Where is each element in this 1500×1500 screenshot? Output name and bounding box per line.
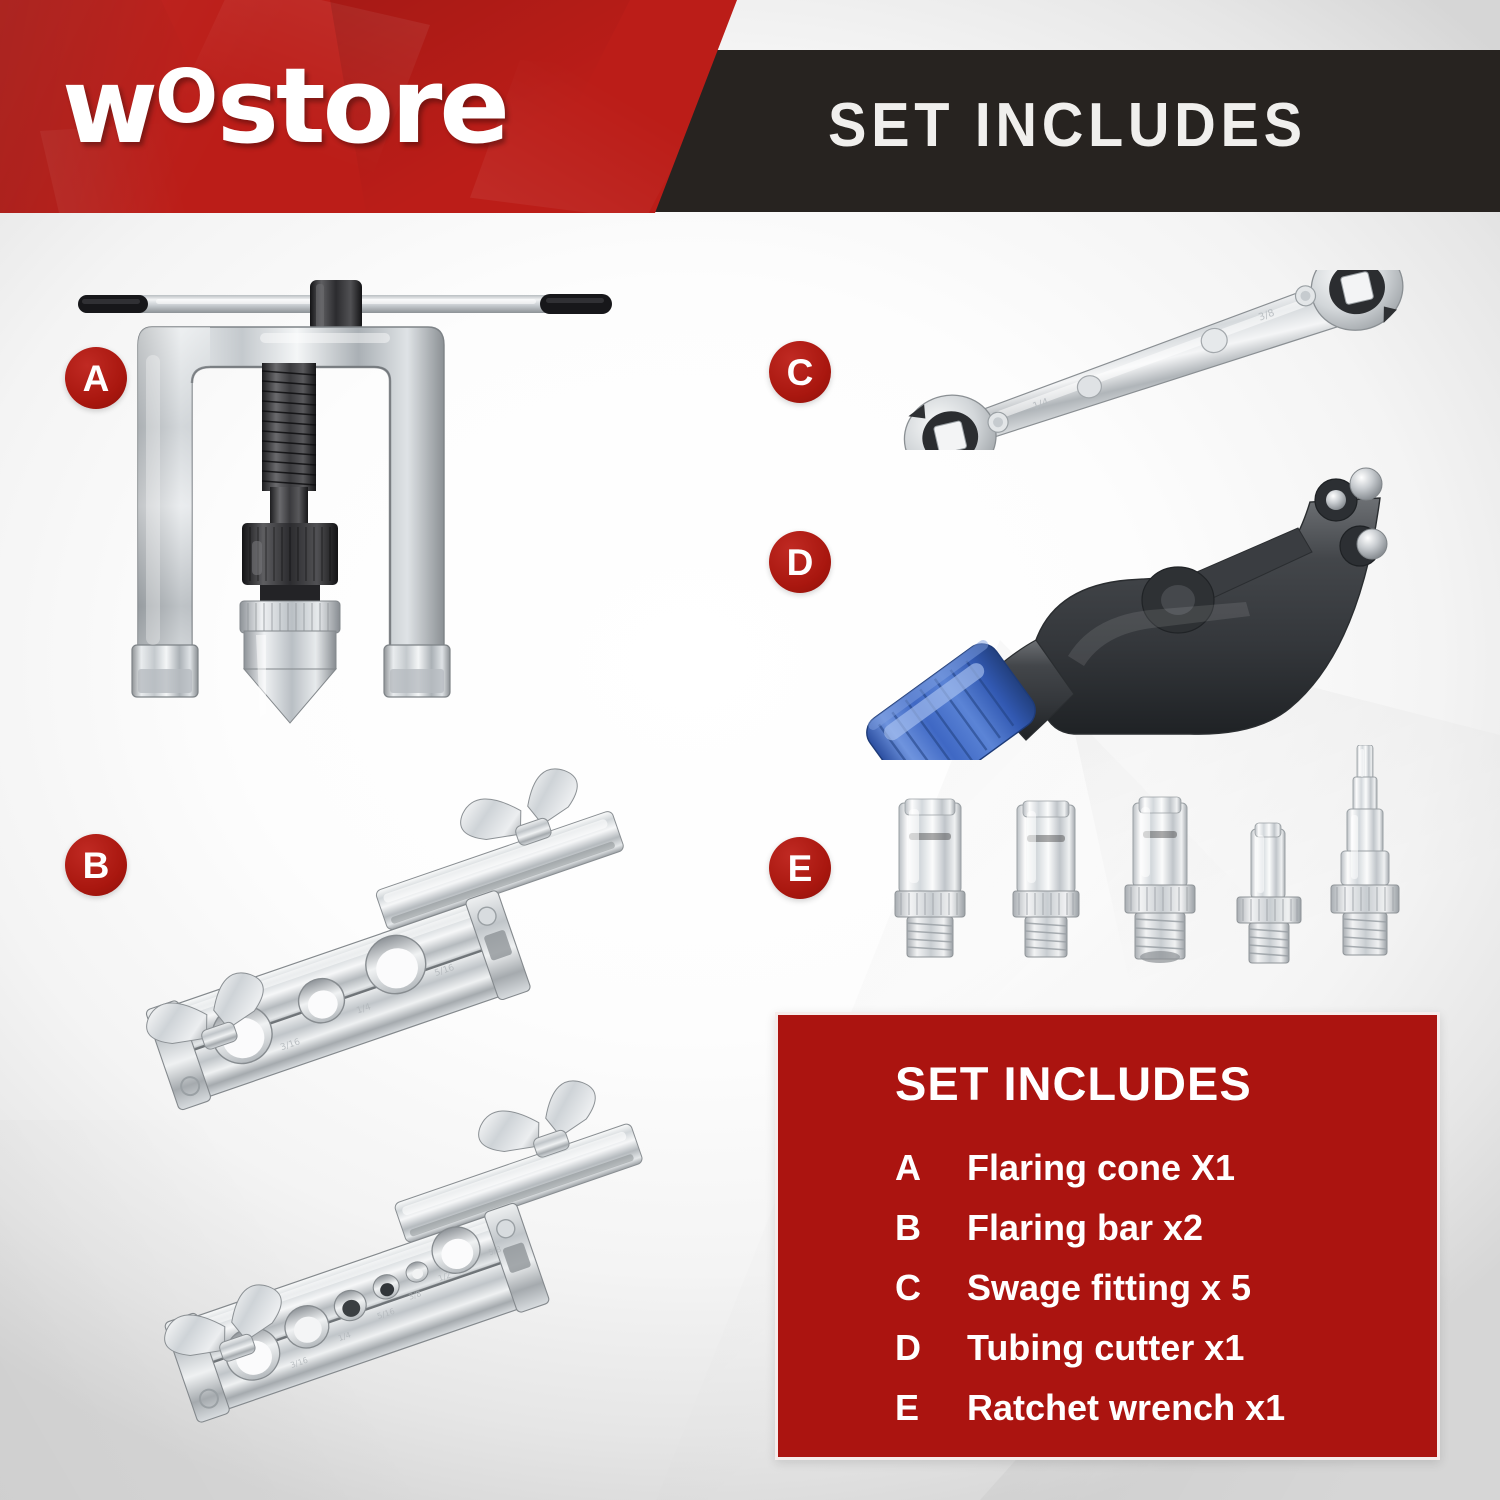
- legend-item: C Swage fitting x 5: [895, 1270, 1415, 1330]
- logo-circle-o: O: [155, 60, 217, 134]
- legend-title: SET INCLUDES: [895, 1060, 1252, 1107]
- legend-item-text: Flaring cone X1: [967, 1150, 1235, 1186]
- product-image-flaring-bars: 3/161/45/16: [95, 760, 715, 1480]
- legend-item: B Flaring bar x2: [895, 1210, 1415, 1270]
- legend-item-text: Swage fitting x 5: [967, 1270, 1251, 1306]
- product-image-flaring-cone: [60, 255, 650, 725]
- legend-item: A Flaring cone X1: [895, 1150, 1415, 1210]
- legend-item-key: D: [895, 1330, 967, 1366]
- badge-d: D: [769, 531, 831, 593]
- logo-text-before: w: [62, 45, 155, 167]
- header-title: SET INCLUDES: [828, 95, 1307, 157]
- product-image-tubing-cutter: [860, 440, 1440, 760]
- legend-list: A Flaring cone X1 B Flaring bar x2 C Swa…: [895, 1150, 1415, 1450]
- product-image-ratchet-wrench: 1/4 3/8: [880, 270, 1425, 450]
- legend-item-key: E: [895, 1390, 967, 1426]
- legend-item-key: A: [895, 1150, 967, 1186]
- legend-item-text: Flaring bar x2: [967, 1210, 1203, 1246]
- legend-item: D Tubing cutter x1: [895, 1330, 1415, 1390]
- legend-item-text: Tubing cutter x1: [967, 1330, 1244, 1366]
- legend-item-key: C: [895, 1270, 967, 1306]
- logo-text-after: store: [217, 45, 507, 167]
- badge-c: C: [769, 341, 831, 403]
- brand-logo: wOstore: [62, 54, 507, 158]
- legend-item: E Ratchet wrench x1: [895, 1390, 1415, 1450]
- legend-card: SET INCLUDES A Flaring cone X1 B Flaring…: [775, 1012, 1440, 1460]
- legend-item-key: B: [895, 1210, 967, 1246]
- badge-e: E: [769, 837, 831, 899]
- product-infographic: wOstore SET INCLUDES A B C D E: [0, 0, 1500, 1500]
- product-image-swage-fittings: [875, 745, 1425, 985]
- legend-item-text: Ratchet wrench x1: [967, 1390, 1285, 1426]
